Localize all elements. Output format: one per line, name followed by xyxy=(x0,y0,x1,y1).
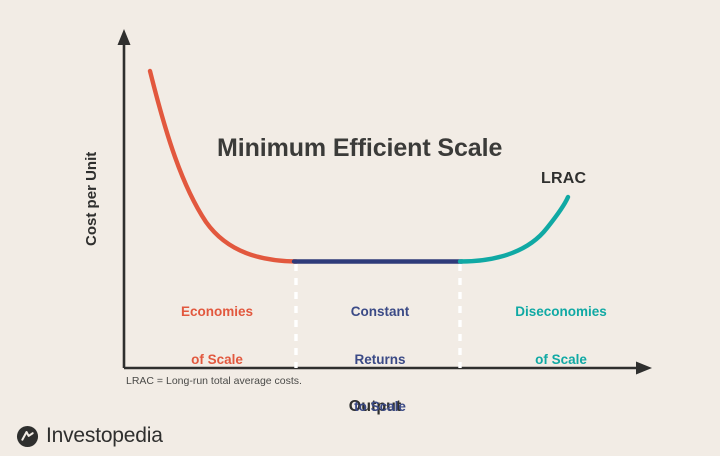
investopedia-logo-icon xyxy=(16,425,39,448)
region-label-diseconomies-line2: of Scale xyxy=(481,352,641,368)
y-axis-arrowhead xyxy=(118,29,131,45)
region-label-constant-line2: Returns xyxy=(310,352,450,368)
lrac-curve-group xyxy=(150,71,568,262)
y-axis-title: Cost per Unit xyxy=(83,104,101,294)
chart-figure: Minimum Efficient Scale LRAC Cost per Un… xyxy=(0,0,720,456)
region-label-constant-line3: to Scale xyxy=(310,399,450,415)
brand-lockup: Investopedia xyxy=(16,424,163,448)
region-label-constant-line1: Constant xyxy=(310,304,450,320)
region-label-constant-returns-to-scale: Constant Returns to Scale xyxy=(310,272,450,447)
lrac-series-label: LRAC xyxy=(541,170,586,189)
region-label-economies-line1: Economies xyxy=(147,304,287,320)
chart-title: Minimum Efficient Scale xyxy=(217,134,502,164)
curve-segment-diseconomies-of-scale xyxy=(460,197,568,262)
region-label-economies-line2: of Scale xyxy=(147,352,287,368)
curve-segment-economies-of-scale xyxy=(150,71,296,262)
region-label-diseconomies-line1: Diseconomies xyxy=(481,304,641,320)
region-label-diseconomies-of-scale: Diseconomies of Scale xyxy=(481,272,641,399)
chart-footnote: LRAC = Long-run total average costs. xyxy=(126,375,302,387)
brand-name: Investopedia xyxy=(46,424,163,448)
